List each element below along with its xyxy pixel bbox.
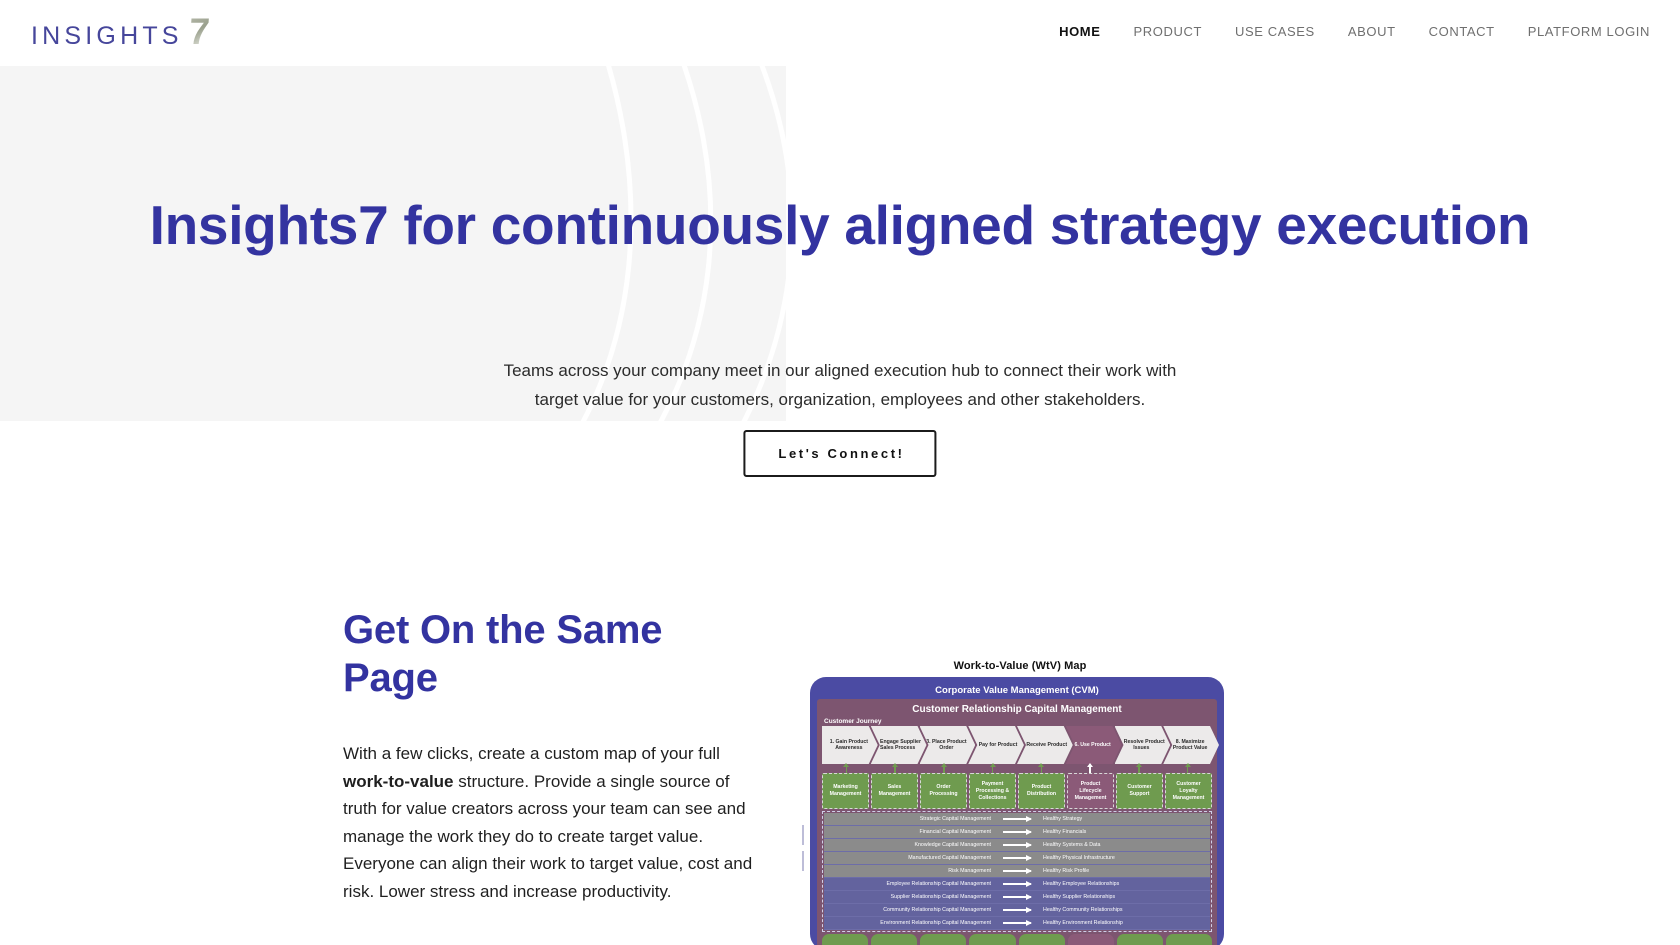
capital-row-source: Risk Management [828, 868, 997, 874]
right-arrow-icon [997, 896, 1037, 898]
bottom-capability-cell [1068, 934, 1114, 945]
capital-row: Strategic Capital ManagementHealthy Stra… [824, 813, 1210, 826]
bottom-capability-cell [969, 934, 1015, 945]
capital-row-source: Knowledge Capital Management [828, 842, 997, 848]
cvm-banner: Corporate Value Management (CVM) [817, 683, 1217, 699]
bottom-capability-cell [1166, 934, 1212, 945]
logo-wordmark: INSIGHTS [31, 24, 183, 49]
journey-step: 8. Maximize Product Value [1163, 726, 1219, 764]
capital-row-outcome: Healthy Financials [1037, 829, 1206, 835]
nav-item-home[interactable]: HOME [1059, 24, 1100, 39]
management-block: Sales Management [871, 773, 918, 809]
journey-step: 1. Gain Product Awareness [822, 726, 878, 764]
body-part-1: With a few clicks, create a custom map o… [343, 744, 720, 763]
management-block: Marketing Management [822, 773, 869, 809]
bottom-capability-row [822, 934, 1212, 945]
nav-item-platform-login[interactable]: PLATFORM LOGIN [1528, 24, 1650, 39]
body-bold-term: work-to-value [343, 772, 454, 791]
same-page-title: Get On the Same Page [343, 606, 763, 702]
management-blocks-row: Marketing ManagementSales ManagementOrde… [822, 773, 1212, 809]
capital-row-outcome: Healthy Strategy [1037, 816, 1206, 822]
management-block: Payment Processing & Collections [969, 773, 1016, 809]
capital-row: Employee Relationship Capital Management… [824, 878, 1210, 891]
capital-row-source: Community Relationship Capital Managemen… [828, 907, 997, 913]
capital-row-source: Financial Capital Management [828, 829, 997, 835]
customer-journey-label: Customer Journey [822, 718, 1212, 725]
tablet-mockup: Corporate Value Management (CVM) Custome… [810, 677, 1224, 945]
journey-link-arrow-icon [822, 764, 871, 773]
journey-arrows-row [822, 764, 1212, 773]
site-header: INSIGHTS 7 HOMEPRODUCTUSE CASESABOUTCONT… [0, 0, 1680, 66]
capital-row-source: Environment Relationship Capital Managem… [828, 920, 997, 926]
right-arrow-icon [997, 922, 1037, 924]
management-block: Customer Loyalty Management [1165, 773, 1212, 809]
capital-row-outcome: Healthy Physical Infrastructure [1037, 855, 1206, 861]
nav-item-contact[interactable]: CONTACT [1429, 24, 1495, 39]
journey-step: 5. Receive Product [1017, 726, 1073, 764]
logo[interactable]: INSIGHTS 7 [31, 13, 209, 50]
journey-link-arrow-icon [968, 764, 1017, 773]
capital-row-outcome: Healthy Employee Relationships [1037, 881, 1206, 887]
nav-item-product[interactable]: PRODUCT [1134, 24, 1202, 39]
capital-row: Risk ManagementHealthy Risk Profile [824, 865, 1210, 878]
crcm-panel: Customer Relationship Capital Management… [817, 699, 1217, 945]
page-root: INSIGHTS 7 HOMEPRODUCTUSE CASESABOUTCONT… [0, 0, 1680, 945]
management-block: Product Distribution [1018, 773, 1065, 809]
capital-row-outcome: Healthy Environment Relationship [1037, 920, 1206, 926]
right-arrow-icon [997, 870, 1037, 872]
capital-row-outcome: Healthy Risk Profile [1037, 868, 1206, 874]
hero-content: Insights7 for continuously aligned strat… [0, 66, 1680, 566]
hero-title: Insights7 for continuously aligned strat… [0, 196, 1680, 254]
wtv-map-caption: Work-to-Value (WtV) Map [810, 660, 1230, 672]
journey-step: 3. Place Product Order [920, 726, 976, 764]
capital-row: Community Relationship Capital Managemen… [824, 904, 1210, 917]
journey-step: 7. Resolve Product Issues [1115, 726, 1171, 764]
journey-steps-row: 1. Gain Product Awareness2. Engage Suppl… [822, 726, 1212, 764]
capital-row-source: Supplier Relationship Capital Management [828, 894, 997, 900]
main-nav: HOMEPRODUCTUSE CASESABOUTCONTACTPLATFORM… [1026, 24, 1650, 39]
crcm-title: Customer Relationship Capital Management [822, 702, 1212, 718]
capital-row-source: Strategic Capital Management [828, 816, 997, 822]
right-arrow-icon [997, 883, 1037, 885]
nav-item-about[interactable]: ABOUT [1348, 24, 1396, 39]
logo-seven-icon: 7 [187, 13, 210, 50]
capital-row-outcome: Healthy Supplier Relationships [1037, 894, 1206, 900]
journey-step: 4. Pay for Product [968, 726, 1024, 764]
capital-row-outcome: Healthy Community Relationships [1037, 907, 1206, 913]
right-arrow-icon [997, 844, 1037, 846]
nav-item-use-cases[interactable]: USE CASES [1235, 24, 1315, 39]
capital-row: Financial Capital ManagementHealthy Fina… [824, 826, 1210, 839]
hero-subtitle: Teams across your company meet in our al… [490, 356, 1190, 414]
capital-row: Environment Relationship Capital Managem… [824, 917, 1210, 930]
capital-row-source: Employee Relationship Capital Management [828, 881, 997, 887]
journey-link-arrow-icon [1163, 764, 1212, 773]
capital-row: Supplier Relationship Capital Management… [824, 891, 1210, 904]
capital-row: Manufactured Capital ManagementHealthy P… [824, 852, 1210, 865]
journey-link-arrow-icon [1066, 764, 1115, 773]
right-arrow-icon [997, 818, 1037, 820]
management-block: Order Processing [920, 773, 967, 809]
journey-step: 2. Engage Supplier Sales Process [871, 726, 927, 764]
journey-link-arrow-icon [920, 764, 969, 773]
same-page-section: Get On the Same Page With a few clicks, … [0, 566, 1680, 945]
same-page-body: With a few clicks, create a custom map o… [343, 740, 763, 905]
lets-connect-button[interactable]: Let's Connect! [743, 430, 936, 477]
journey-step: 6. Use Product [1066, 726, 1122, 764]
capital-row-outcome: Healthy Systems & Data [1037, 842, 1206, 848]
bottom-capability-cell [920, 934, 966, 945]
journey-link-arrow-icon [1115, 764, 1164, 773]
journey-link-arrow-icon [871, 764, 920, 773]
wtv-map-figure: Work-to-Value (WtV) Map Corporate Value … [810, 660, 1230, 945]
capital-management-block: Strategic Capital ManagementHealthy Stra… [822, 811, 1212, 932]
bottom-capability-cell [871, 934, 917, 945]
right-arrow-icon [997, 831, 1037, 833]
capital-row-source: Manufactured Capital Management [828, 855, 997, 861]
right-arrow-icon [997, 857, 1037, 859]
management-block: Product Lifecycle Management [1067, 773, 1114, 809]
capital-row: Knowledge Capital ManagementHealthy Syst… [824, 839, 1210, 852]
bottom-capability-cell [1019, 934, 1065, 945]
bottom-capability-cell [822, 934, 868, 945]
right-arrow-icon [997, 909, 1037, 911]
journey-link-arrow-icon [1017, 764, 1066, 773]
tablet-side-buttons [802, 825, 806, 873]
bottom-capability-cell [1117, 934, 1163, 945]
hero-section: Insights7 for continuously aligned strat… [0, 66, 1680, 566]
same-page-text-column: Get On the Same Page With a few clicks, … [343, 606, 763, 905]
management-block: Customer Support [1116, 773, 1163, 809]
